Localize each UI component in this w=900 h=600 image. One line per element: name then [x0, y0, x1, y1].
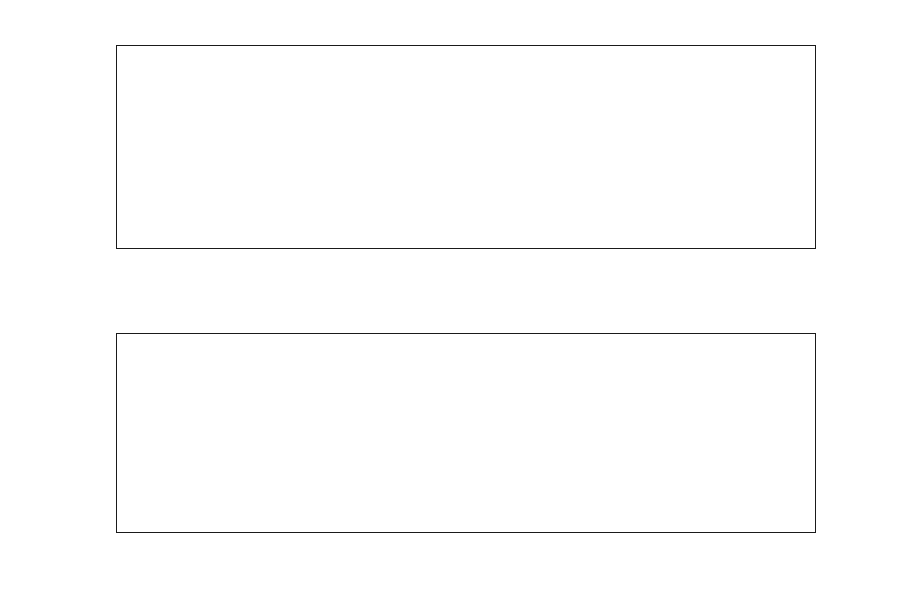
bottom-chart-plot-area [116, 333, 816, 533]
top-chart-plot-area [116, 45, 816, 249]
figure-root [0, 0, 900, 600]
bottom-chart-svg [117, 334, 815, 532]
top-chart-svg [117, 46, 815, 248]
